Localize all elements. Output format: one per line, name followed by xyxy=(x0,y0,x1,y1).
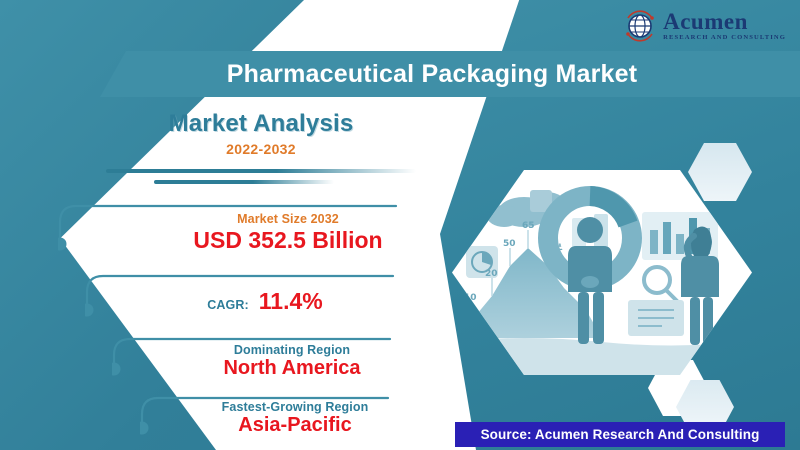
metric-label: CAGR: xyxy=(207,298,248,312)
metric-value: 11.4% xyxy=(259,288,323,315)
analysis-period: 2022-2032 xyxy=(96,141,426,157)
globe-icon xyxy=(623,9,657,43)
divider-rule-secondary xyxy=(154,180,334,184)
infographic-canvas: 10 20 50 65 45 30 xyxy=(0,0,800,450)
analysis-heading: Market Analysis xyxy=(96,110,426,138)
source-text: Source: Acumen Research And Consulting xyxy=(481,427,760,442)
divider-rule-primary xyxy=(106,169,416,173)
metric-label: Dominating Region xyxy=(157,343,427,357)
logo-tagline: RESEARCH AND CONSULTING xyxy=(663,35,786,42)
svg-text:20: 20 xyxy=(485,269,498,279)
logo-name: Acumen xyxy=(663,10,786,33)
metric-label: Fastest-Growing Region xyxy=(160,400,430,414)
monitor xyxy=(628,300,684,336)
source-bar: Source: Acumen Research And Consulting xyxy=(455,422,785,447)
page-title: Pharmaceutical Packaging Market xyxy=(227,60,674,89)
svg-text:65: 65 xyxy=(522,221,535,231)
svg-text:50: 50 xyxy=(503,239,516,249)
metric-value: North America xyxy=(157,357,427,380)
metric-value: USD 352.5 Billion xyxy=(138,227,438,254)
metric-label: Market Size 2032 xyxy=(138,212,438,226)
metric-value: Asia-Pacific xyxy=(160,414,430,437)
market-analysis-block: Market Analysis 2022-2032 xyxy=(96,110,426,184)
title-band: Pharmaceutical Packaging Market xyxy=(100,51,800,97)
brand-logo: Acumen RESEARCH AND CONSULTING xyxy=(623,6,786,46)
magnifier-icon xyxy=(644,267,680,304)
